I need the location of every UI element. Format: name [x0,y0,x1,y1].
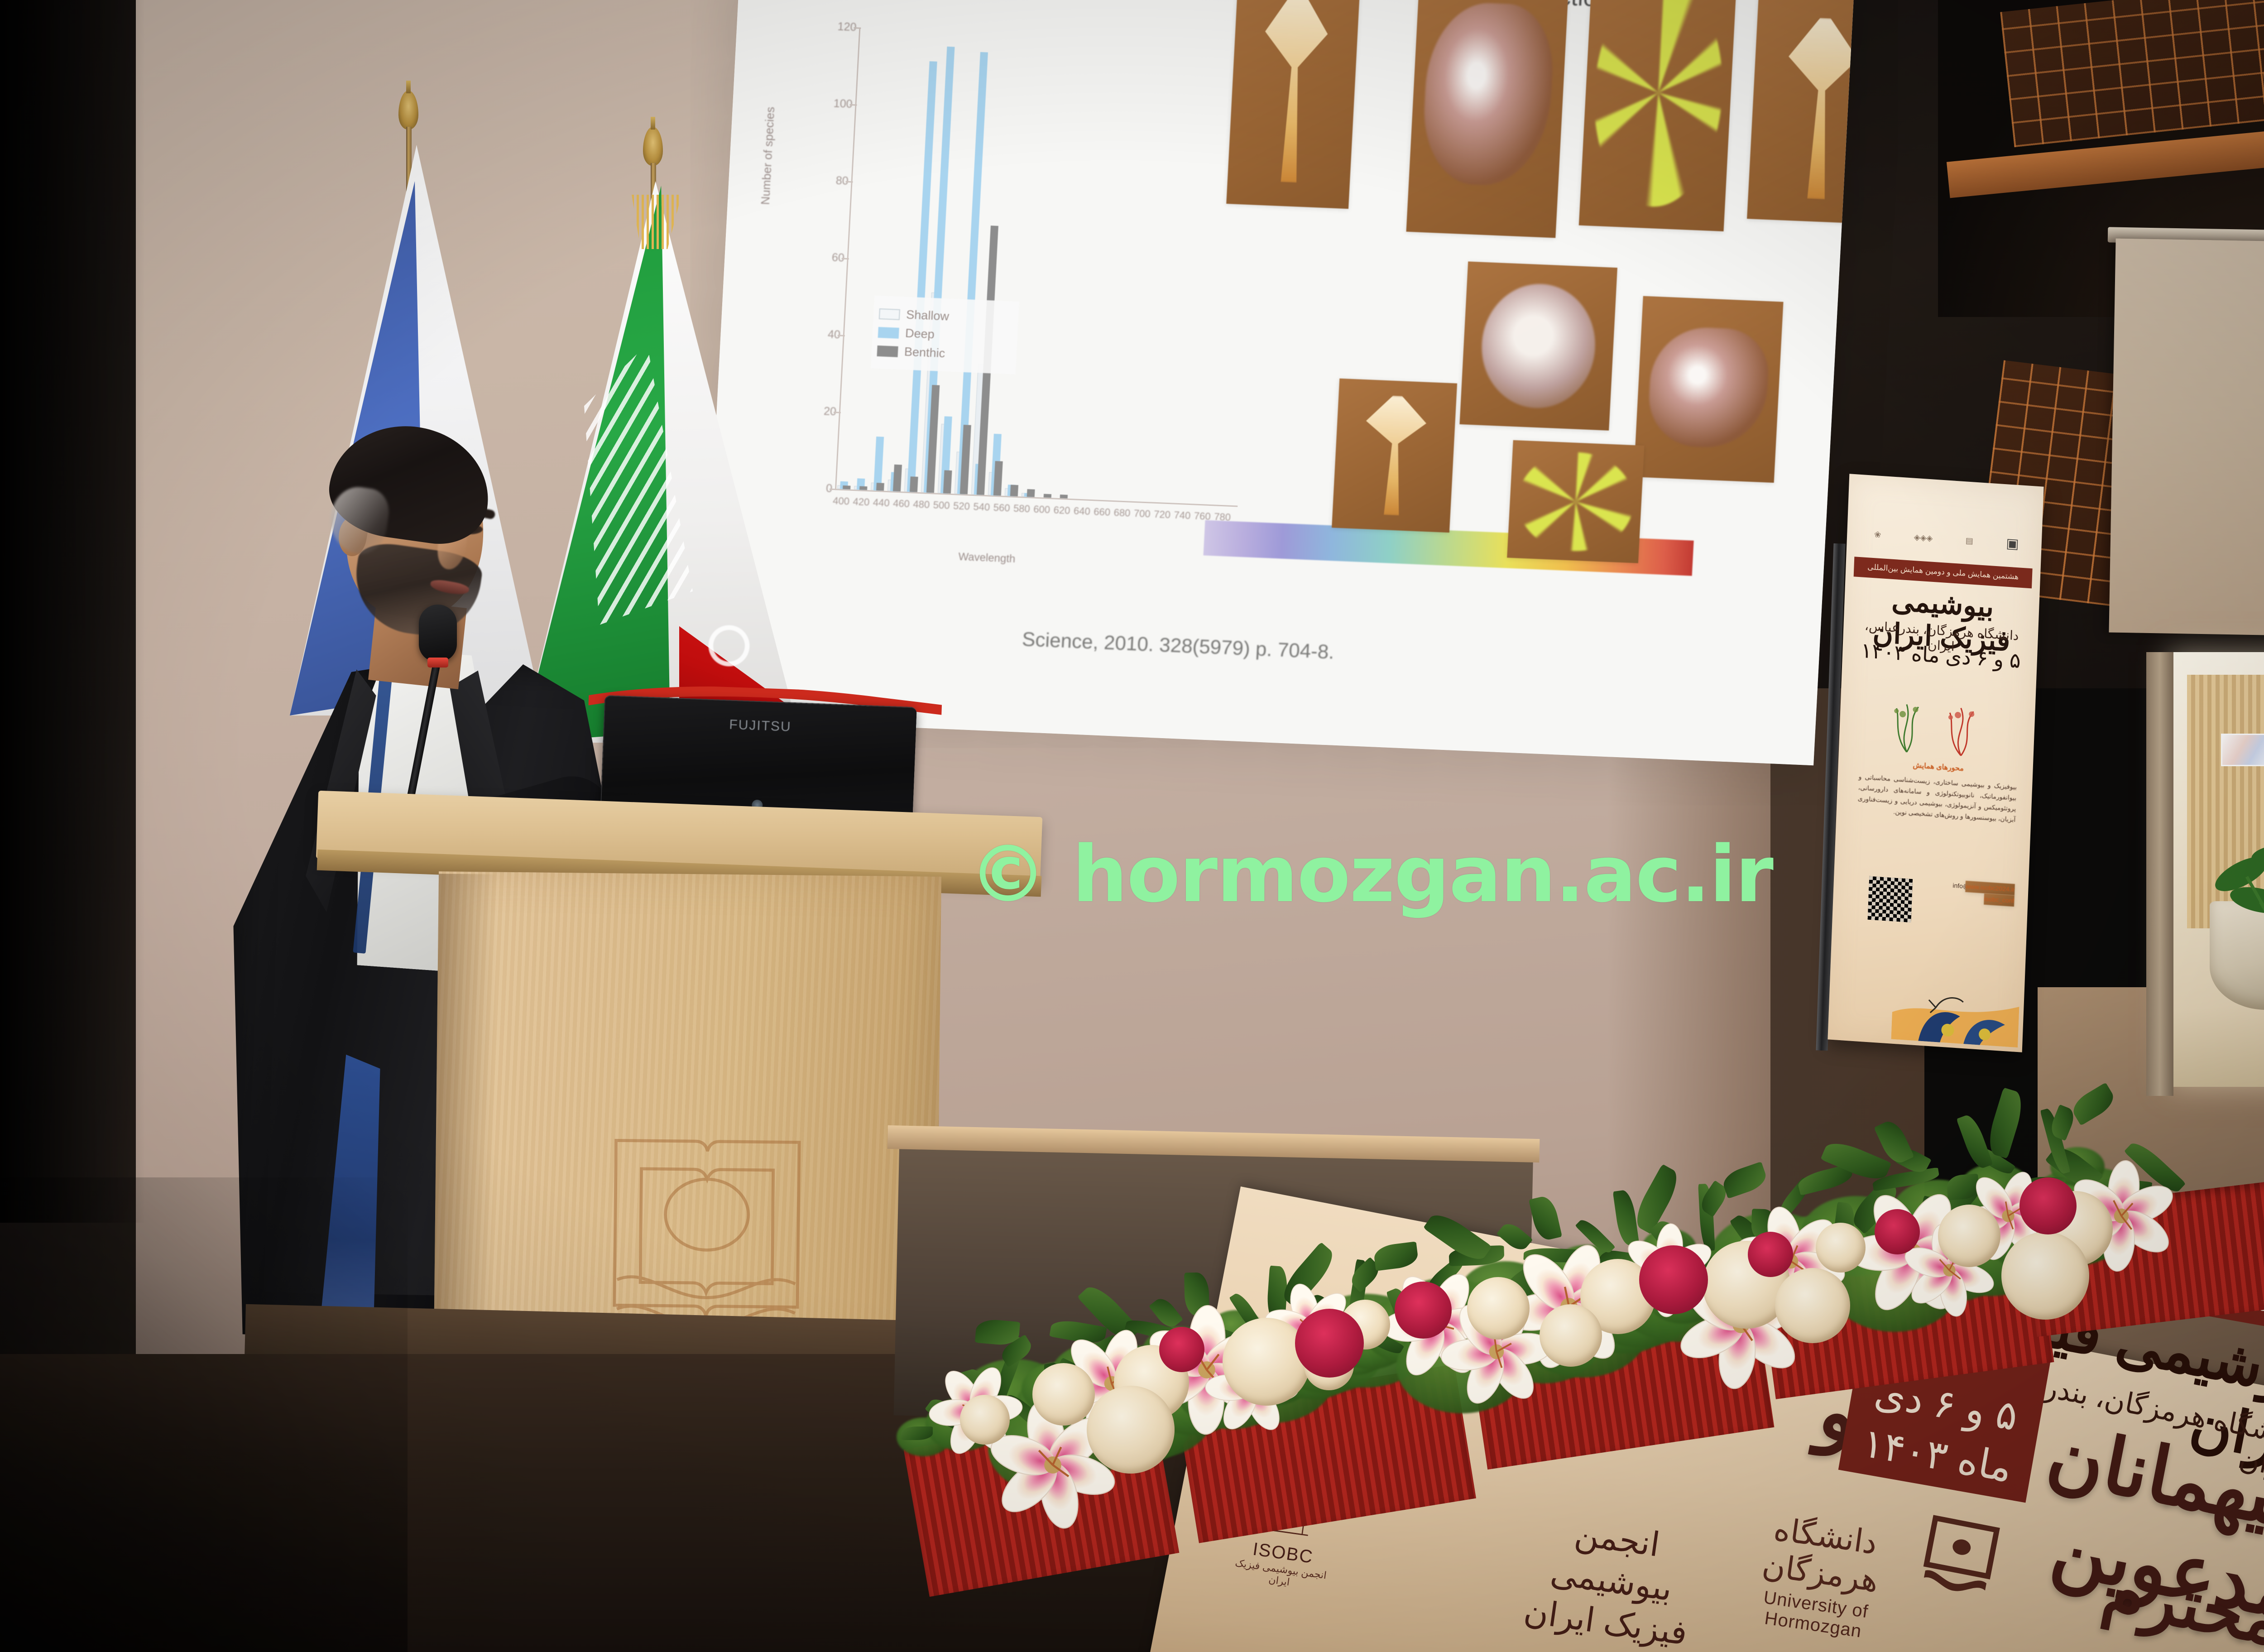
chart-y-tick: 120 [818,19,857,34]
leaf [901,1426,933,1440]
chart-y-tick: 40 [802,327,840,341]
door-frame [2146,652,2173,1096]
organism-bioluminescence [1588,0,1728,209]
chart-y-tick-mark [834,412,841,413]
sponsor-logo-3: ▤ [1965,536,1973,546]
chart-y-tick-mark [849,104,857,106]
vignette-left [0,0,145,1223]
chart-y-tick: 0 [794,480,832,495]
chart-bar [1026,489,1035,497]
legend-swatch-deep [878,327,899,338]
organism-caption: Photostomias guernei 800 m [1406,232,1498,238]
organism-photo: Euplokamis sp. 60 m [1634,296,1784,483]
chart-bar [943,470,952,494]
carnation-flower [1395,1282,1452,1339]
rose-flower [2001,1232,2089,1320]
chart-y-tick: 20 [798,404,836,418]
sponsor-logo-2: ◈◈◈ [1914,532,1933,543]
organism-photo: Photostomias guernei 800 m [1406,0,1570,238]
organism-bioluminescence [1421,0,1556,188]
organism-caption: Macrourus sp. 60 m [1747,219,1807,225]
ceiling-wood-slat-panel [2000,0,2264,147]
chart-y-tick-mark [830,489,837,490]
legend-item-benthic: Benthic [877,344,1011,363]
chart-bars [836,28,1262,506]
corridor-framed-poster [2221,734,2264,766]
organism-photo: Macrourus sp. 60 m [1747,0,1858,225]
carnation-flower [2019,1177,2077,1234]
organism-photo: Gonostoma 90 m [1507,440,1644,563]
secondary-projection-screen [2109,239,2264,636]
banner-coral-graphic [1875,671,2005,760]
presentation-photo-scene: ...light produced by a biochemical react… [0,0,2264,1652]
organism-bioluminescence [1354,394,1435,517]
bioluminescence-wavelength-chart: Number of species Wavelength 02040608010… [763,11,1267,573]
organism-bioluminescence [1646,326,1770,450]
organism-photo: Zoea crustacea 100 m [1226,0,1361,209]
chart-y-tick: 80 [810,173,849,187]
flag-iran-emblem [688,602,770,675]
chart-y-tick-mark [842,258,849,259]
organism-photo: Tomopteris sp. 400 m [1332,379,1457,533]
carnation-flower [1875,1209,1920,1254]
chart-legend: Shallow Deep Benthic [871,296,1019,375]
chart-y-tick-mark [854,27,861,29]
chart-bar [993,461,1002,495]
organism-bioluminescence [1478,282,1598,410]
banner-body-paragraph: بیوفیزیک و بیوشیمی ساختاری، زیست‌شناسی م… [1858,773,2017,823]
banner-illustration [1891,944,2022,1047]
carnation-flower [1748,1232,1793,1277]
legend-item-shallow: Shallow [879,307,1013,326]
potted-plant [2187,806,2264,933]
rose-flower [1032,1363,1095,1426]
rose-flower [1540,1304,1602,1367]
organism-bioluminescence [1250,0,1338,184]
chart-y-tick-mark [838,335,845,336]
chart-bar [876,483,884,491]
qr-code[interactable] [1868,876,1913,922]
standing-conference-banner: ❀ ◈◈◈ ▤ ▣ هشتمین همایش ملی و دومین همایش… [1828,474,2043,1052]
main-projection-screen: ...light produced by a biochemical react… [700,0,1858,765]
chart-y-tick-mark [846,181,853,183]
hormozgan-mark: ▣ [2006,535,2019,552]
chart-bar [1010,485,1018,496]
legend-label-deep: Deep [905,326,935,341]
presentation-slide: ...light produced by a biochemical react… [700,0,1858,765]
table-banner-association: انجمن بیوشیمی فیزیک ایران [1509,1505,1715,1652]
slide-citation: Science, 2010. 328(5979) p. 704-8. [1022,628,1656,677]
chart-x-axis-label: Wavelength [958,551,1016,566]
banner-contact-block: www.isobc2024.ir info@hormozgan.ac.ir is… [1919,878,2015,895]
organism-caption: Poralia rufescens 900 m [1579,226,1652,231]
organism-caption: Euplokamis sp. 60 m [1634,477,1698,483]
sponsor-logo-1: ❀ [1874,530,1881,540]
legend-label-benthic: Benthic [904,345,945,360]
rose-flower [960,1395,1010,1445]
organism-photo: Beroe forskalii 80 m [1459,261,1617,430]
chart-bar [910,476,918,492]
carnation-flower [1295,1309,1364,1378]
leaf [1984,1087,2027,1158]
chart-bar [893,464,902,491]
rose-flower [1775,1268,1850,1343]
chart-bar [859,486,867,490]
chart-bar [1060,495,1068,499]
carnation-flower [1159,1327,1204,1372]
banner-body-text: محورهای همایش بیوفیزیک و بیوشیمی ساختاری… [1857,756,2017,825]
microphone-head [419,605,457,662]
chart-bar [1043,494,1051,498]
chart-y-axis-label: Number of species [758,106,777,205]
banner-red-strip-text: هشتمین همایش ملی و دومین همایش بین‌الملل… [1854,557,2032,582]
rose-flower [1467,1277,1530,1340]
laptop-brand-label: FUJITSU [729,717,792,735]
rose-flower [1087,1386,1175,1474]
legend-swatch-shallow [879,308,900,320]
chart-y-tick: 100 [814,96,853,111]
legend-item-deep: Deep [878,325,1012,345]
chart-y-tick: 60 [806,250,844,264]
chart-bar [843,485,850,489]
legend-swatch-benthic [877,345,898,357]
organism-caption: Beroe forskalii 80 m [1459,424,1520,431]
organism-photo: Poralia rufescens 900 m [1579,0,1738,231]
rose-flower [1816,1223,1866,1273]
organism-bioluminescence [1516,450,1636,553]
rose-flower [1938,1205,2000,1267]
vignette-bottom-left [0,1177,408,1652]
microphone-red-ring [427,658,448,668]
copyright-watermark: © hormozgan.ac.ir [969,829,1773,920]
banner-sponsor-logos: ❀ ◈◈◈ ▤ ▣ [1874,519,2019,559]
carnation-flower [1639,1245,1708,1314]
legend-label-shallow: Shallow [906,308,950,324]
